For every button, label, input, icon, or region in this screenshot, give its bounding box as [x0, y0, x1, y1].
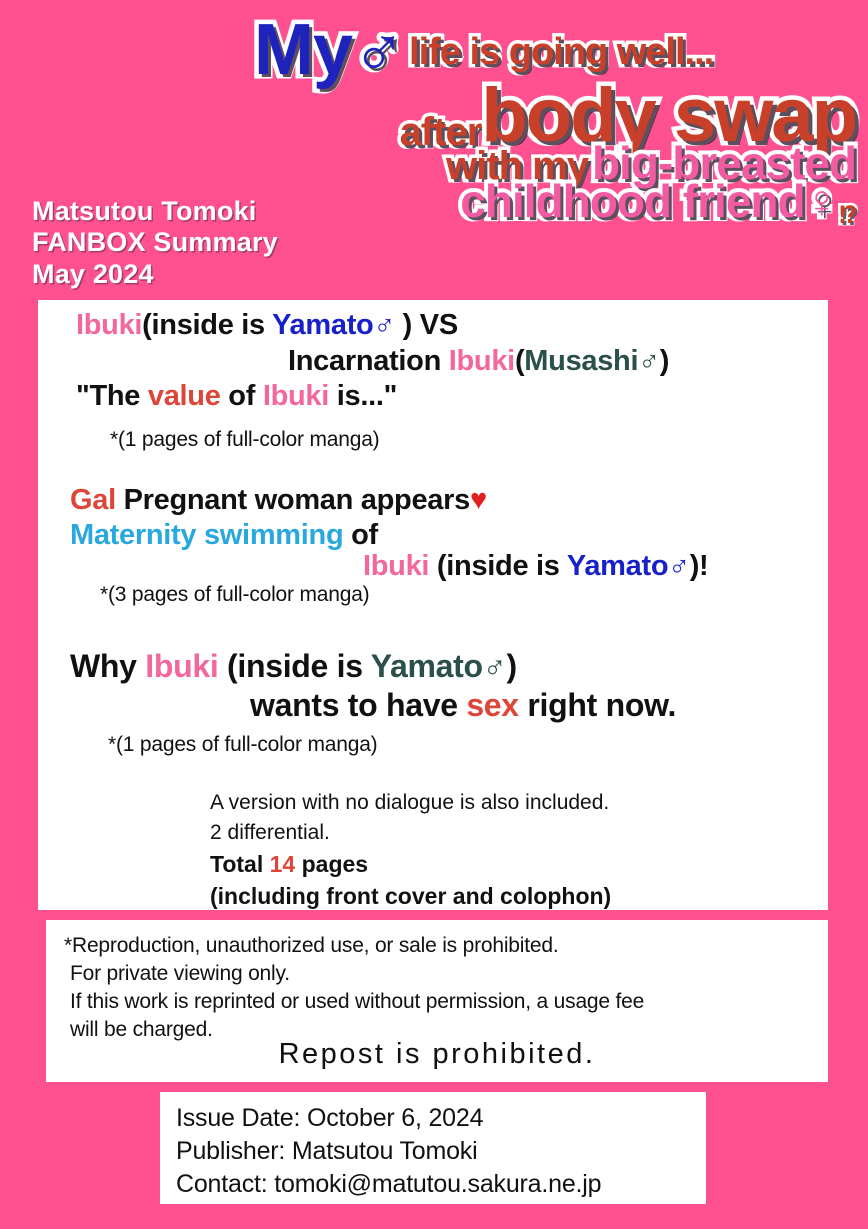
paren-open: (: [515, 345, 524, 377]
summary-block: A version with no dialogue is also inclu…: [210, 788, 611, 913]
yamato-name: Yamato♂: [371, 648, 507, 684]
value-word: value: [148, 380, 221, 412]
total-label: Total: [210, 851, 270, 877]
title-interrobang: ⁉: [839, 202, 856, 229]
ibuki-name: Ibuki: [449, 345, 515, 377]
paren-close: ): [660, 345, 669, 377]
section-1-line-a: Ibuki(inside is Yamato♂ ) VS: [76, 309, 458, 342]
section-3-note: *(1 pages of full-color manga): [108, 733, 377, 757]
section-3-line-a: Why Ibuki (inside is Yamato♂): [70, 648, 517, 685]
of-word: of: [221, 380, 263, 412]
ibuki-name: Ibuki: [145, 648, 218, 684]
author-block: Matsutou Tomoki FANBOX Summary May 2024: [32, 196, 332, 290]
incarnation-label: Incarnation: [288, 345, 449, 377]
section-2-line-c: Ibuki (inside is Yamato♂)!: [363, 550, 708, 583]
section-1-note: *(1 pages of full-color manga): [110, 428, 379, 452]
inside-is-label: (inside is: [429, 550, 567, 582]
footer-text: Issue Date: October 6, 2024 Publisher: M…: [176, 1102, 601, 1201]
section-3-line-b: wants to have sex right now.: [250, 687, 676, 724]
notice-text: *Reproduction, unauthorized use, or sale…: [64, 932, 818, 1044]
section-1-mid: (inside is: [142, 309, 272, 341]
musashi-name: Musashi♂: [524, 345, 659, 377]
quote-close: is...": [329, 380, 397, 412]
title-my-text: My♂: [254, 10, 405, 90]
inside-is-label: (inside is: [218, 648, 370, 684]
author-source: FANBOX Summary: [32, 227, 332, 258]
of-word: of: [343, 519, 378, 551]
quote-open: "The: [76, 380, 148, 412]
author-month: May 2024: [32, 259, 332, 290]
title-line1-rest: life is going well...: [409, 31, 713, 73]
notice-card: *Reproduction, unauthorized use, or sale…: [46, 920, 828, 1082]
wants-to-have-label: wants to have: [250, 687, 466, 723]
author-name: Matsutou Tomoki: [32, 196, 332, 227]
section-2-line-a: Gal Pregnant woman appears♥: [70, 484, 487, 517]
contact-email: Contact: tomoki@matutou.sakura.ne.jp: [176, 1168, 601, 1201]
total-page-count: 14: [270, 851, 296, 877]
why-word: Why: [70, 648, 145, 684]
pages-unit: pages: [295, 851, 368, 877]
poster-title: My♂life is going well... afterbody swap …: [248, 14, 856, 276]
notice-line-2: For private viewing only.: [70, 960, 818, 988]
yamato-name: Yamato♂: [272, 309, 395, 341]
paren-close: ): [506, 648, 516, 684]
female-symbol-icon: ♀: [805, 175, 839, 227]
issue-date: Issue Date: October 6, 2024: [176, 1102, 601, 1135]
ibuki-name: Ibuki: [263, 380, 329, 412]
paren-close: )!: [690, 550, 709, 582]
section-2-line-b: Maternity swimming of: [70, 519, 378, 552]
section-2-note: *(3 pages of full-color manga): [100, 583, 369, 607]
sex-word: sex: [466, 687, 519, 723]
poster-root: My♂life is going well... afterbody swap …: [0, 0, 868, 1229]
notice-line-1: *Reproduction, unauthorized use, or sale…: [64, 932, 818, 960]
summary-line-2: 2 differential.: [210, 818, 611, 848]
summary-total-line: Total 14 pages: [210, 848, 611, 881]
summary-line-1: A version with no dialogue is also inclu…: [210, 788, 611, 818]
pregnant-text: Pregnant woman appears: [116, 484, 470, 516]
maternity-swimming-text: Maternity swimming: [70, 519, 343, 551]
section-1-line-c: "The value of Ibuki is...": [76, 380, 397, 413]
gal-word: Gal: [70, 484, 116, 516]
publisher: Publisher: Matsutou Tomoki: [176, 1135, 601, 1168]
main-content-card: Ibuki(inside is Yamato♂ ) VS Incarnation…: [38, 300, 828, 910]
section-1-line-b: Incarnation Ibuki(Musashi♂): [288, 345, 669, 378]
right-now-label: right now.: [519, 687, 676, 723]
title-childhoodfriend-text: childhood friend: [460, 175, 804, 227]
notice-line-3: If this work is reprinted or used withou…: [70, 988, 818, 1016]
section-1-tail: ) VS: [395, 309, 458, 341]
ibuki-name: Ibuki: [76, 309, 142, 341]
heart-icon: ♥: [470, 484, 487, 516]
summary-line-4: (including front cover and colophon): [210, 880, 611, 913]
title-line-4: childhood friend♀⁉: [248, 178, 856, 228]
yamato-name: Yamato♂: [567, 550, 690, 582]
repost-prohibited-text: Repost is prohibited.: [46, 1038, 828, 1071]
ibuki-name: Ibuki: [363, 550, 429, 582]
male-symbol-icon: ♂: [352, 10, 405, 90]
footer-card: Issue Date: October 6, 2024 Publisher: M…: [160, 1092, 706, 1204]
